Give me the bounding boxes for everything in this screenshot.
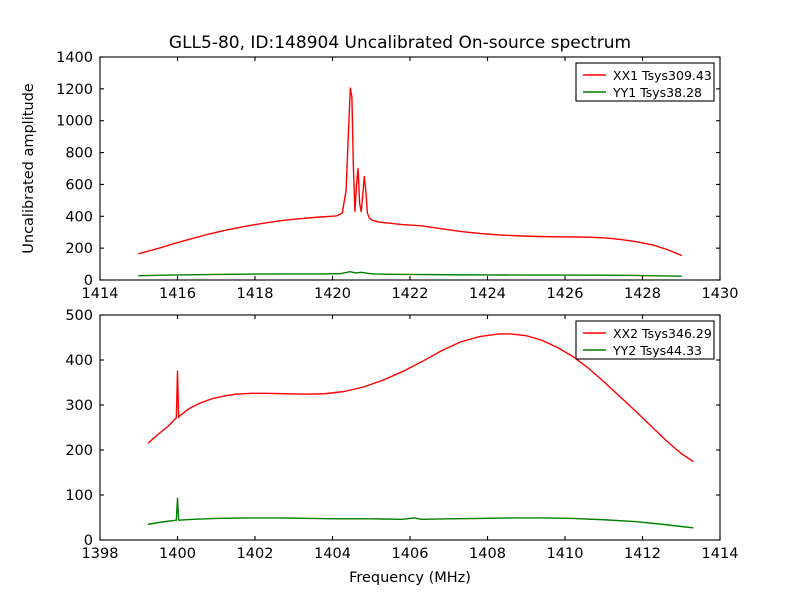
x-tick-label: 1406 xyxy=(392,546,429,562)
y-tick-label: 600 xyxy=(65,177,93,193)
x-tick-label: 1428 xyxy=(624,286,661,302)
legend-label-1: YY1 Tsys38.28 xyxy=(612,85,702,100)
x-tick-label: 1404 xyxy=(314,546,351,562)
legend-label-0: XX1 Tsys309.43 xyxy=(613,68,712,83)
legend-top: XX1 Tsys309.43YY1 Tsys38.28 xyxy=(576,63,714,101)
x-tick-label: 1402 xyxy=(237,546,274,562)
y-tick-label: 100 xyxy=(65,488,93,504)
x-tick-label: 1410 xyxy=(547,546,584,562)
x-tick-label: 1414 xyxy=(702,546,739,562)
y-tick-label: 0 xyxy=(84,273,93,289)
y-tick-label: 400 xyxy=(65,209,93,225)
x-tick-label: 1424 xyxy=(469,286,506,302)
y-tick-label: 400 xyxy=(65,353,93,369)
x-tick-label: 1422 xyxy=(392,286,429,302)
x-tick-label: 1400 xyxy=(159,546,196,562)
x-tick-label: 1418 xyxy=(237,286,274,302)
legend-label-1: YY2 Tsys44.33 xyxy=(612,343,702,358)
x-tick-label: 1408 xyxy=(469,546,506,562)
y-axis-label-top: Uncalibrated amplitude xyxy=(21,83,37,254)
y-tick-label: 200 xyxy=(65,241,93,257)
x-tick-label: 1426 xyxy=(547,286,584,302)
spectrum-figure-canvas: GLL5-80, ID:148904 Uncalibrated On-sourc… xyxy=(0,0,800,600)
x-tick-label: 1420 xyxy=(314,286,351,302)
page-title: GLL5-80, ID:148904 Uncalibrated On-sourc… xyxy=(169,33,631,53)
y-tick-label: 300 xyxy=(65,398,93,414)
x-tick-label: 1416 xyxy=(159,286,196,302)
y-tick-label: 200 xyxy=(65,443,93,459)
y-tick-label: 1400 xyxy=(56,50,93,66)
y-tick-label: 500 xyxy=(65,308,93,324)
y-tick-label: 800 xyxy=(65,146,93,162)
x-tick-label: 1412 xyxy=(624,546,661,562)
axes-top: 1414141614181420142214241426142814300200… xyxy=(21,50,738,302)
plot-panels: 1414141614181420142214241426142814300200… xyxy=(21,50,738,586)
legend-label-0: XX2 Tsys346.29 xyxy=(613,326,712,341)
y-tick-label: 1000 xyxy=(56,114,93,130)
matplotlib-figure: GLL5-80, ID:148904 Uncalibrated On-sourc… xyxy=(0,0,800,600)
y-tick-label: 0 xyxy=(84,533,93,549)
legend-bottom: XX2 Tsys346.29YY2 Tsys44.33 xyxy=(576,321,714,359)
y-tick-label: 1200 xyxy=(56,82,93,98)
x-axis-label-bottom: Frequency (MHz) xyxy=(349,570,471,586)
x-tick-label: 1430 xyxy=(702,286,739,302)
